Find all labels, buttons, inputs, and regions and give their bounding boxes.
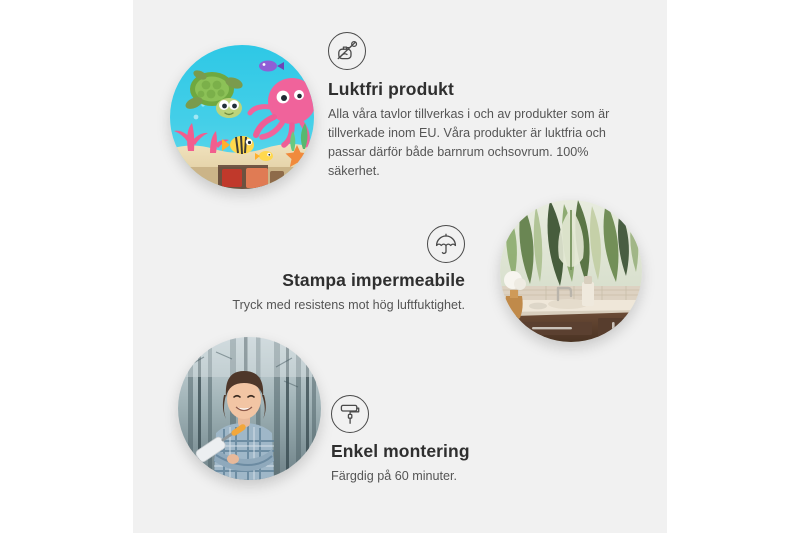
feature-easy-assembly: Enkel montering Färgdig på 60 minuter. — [331, 395, 561, 486]
paint-roller-icon — [331, 395, 369, 433]
icon-row — [205, 225, 465, 263]
feature-title: Enkel montering — [331, 441, 561, 462]
icon-row — [331, 395, 561, 433]
image-underwater-cartoon-scene — [170, 45, 314, 189]
feature-title: Luktfri produkt — [328, 79, 626, 100]
content-panel: Luktfri produkt Alla våra tavlor tillver… — [133, 0, 667, 533]
image-bathroom-tropical-wallpaper — [500, 200, 642, 342]
feature-title: Stampa impermeabile — [205, 270, 465, 291]
no-odor-spray-bottle-icon — [328, 32, 366, 70]
feature-waterproof: Stampa impermeabile Tryck med resistens … — [205, 225, 465, 315]
feature-odor-free: Luktfri produkt Alla våra tavlor tillver… — [328, 32, 626, 182]
feature-body: Färgdig på 60 minuter. — [331, 467, 561, 486]
promo-page: Luktfri produkt Alla våra tavlor tillver… — [0, 0, 800, 533]
feature-body: Alla våra tavlor tillverkas i och av pro… — [328, 105, 626, 182]
icon-row — [328, 32, 626, 70]
umbrella-icon — [427, 225, 465, 263]
image-woman-with-paint-roller — [178, 337, 321, 480]
feature-body: Tryck med resistens mot hög luftfuktighe… — [205, 296, 465, 315]
